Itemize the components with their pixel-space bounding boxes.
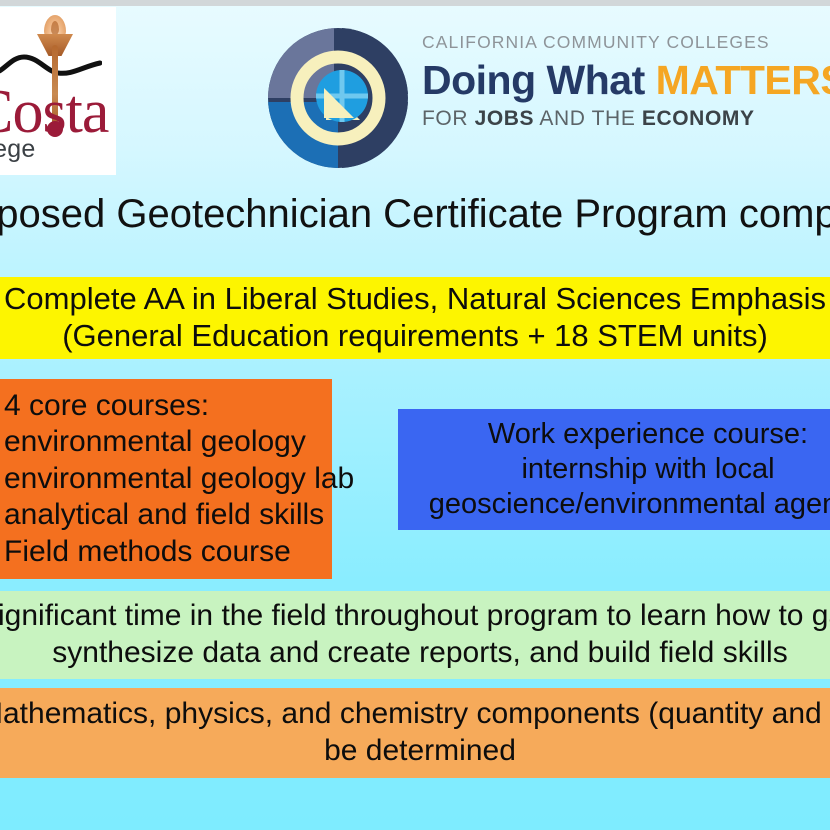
stem-components-box: Mathematics, physics, and chemistry comp…: [0, 688, 830, 778]
doing-what-matters-logo: CALIFORNIA COMMUNITY COLLEGES Doing What…: [266, 24, 830, 172]
field-line-1: Significant time in the field throughout…: [0, 598, 830, 635]
dwm-headline-accent: MATTERS: [656, 57, 830, 103]
aa-line-1: Complete AA in Liberal Studies, Natural …: [0, 281, 830, 318]
college-subtext: a College: [0, 135, 35, 164]
circular-arrow-globe-icon: [266, 26, 410, 170]
page-title: Proposed Geotechnician Certificate Progr…: [0, 192, 830, 237]
aa-requirement-box: Complete AA in Liberal Studies, Natural …: [0, 277, 830, 359]
work-experience-box: Work experience course: internship with …: [398, 409, 830, 530]
core-line-4: analytical and field skills: [0, 497, 324, 534]
field-time-box: Significant time in the field throughout…: [0, 591, 830, 679]
miracosta-college-logo: raCosta a College: [0, 7, 116, 175]
math-line-2: be determined: [0, 733, 830, 770]
college-wordmark: raCosta: [0, 81, 108, 143]
aa-line-2: (General Education requirements + 18 STE…: [0, 318, 830, 355]
work-line-3: geoscience/environmental agency: [429, 487, 830, 522]
dwm-sub-economy: ECONOMY: [642, 107, 755, 130]
dwm-headline-dark: Doing What: [422, 57, 656, 103]
field-line-2: synthesize data and create reports, and …: [0, 635, 830, 672]
dwm-subline: FOR JOBS AND THE ECONOMY: [422, 107, 830, 131]
dwm-headline: Doing What MATTERS: [422, 59, 830, 102]
work-line-2: internship with local: [521, 452, 774, 487]
work-line-1: Work experience course:: [488, 417, 808, 452]
top-edge-strip: [0, 0, 830, 6]
math-line-1: Mathematics, physics, and chemistry comp…: [0, 696, 830, 733]
presentation-slide: raCosta a College CALIFORNIA COMMUNITY C…: [0, 0, 830, 830]
core-courses-box: 4 core courses: environmental geology en…: [0, 379, 332, 579]
dwm-kicker: CALIFORNIA COMMUNITY COLLEGES: [422, 32, 830, 53]
dwm-text-block: CALIFORNIA COMMUNITY COLLEGES Doing What…: [422, 32, 830, 131]
dwm-sub-pre: FOR: [422, 107, 475, 130]
core-line-3: environmental geology lab: [0, 461, 354, 498]
core-line-2: environmental geology: [0, 424, 306, 461]
core-line-5: Field methods course: [0, 534, 291, 571]
dwm-sub-mid: AND THE: [534, 107, 642, 130]
core-line-1: 4 core courses:: [0, 388, 209, 425]
dwm-sub-jobs: JOBS: [475, 107, 535, 130]
